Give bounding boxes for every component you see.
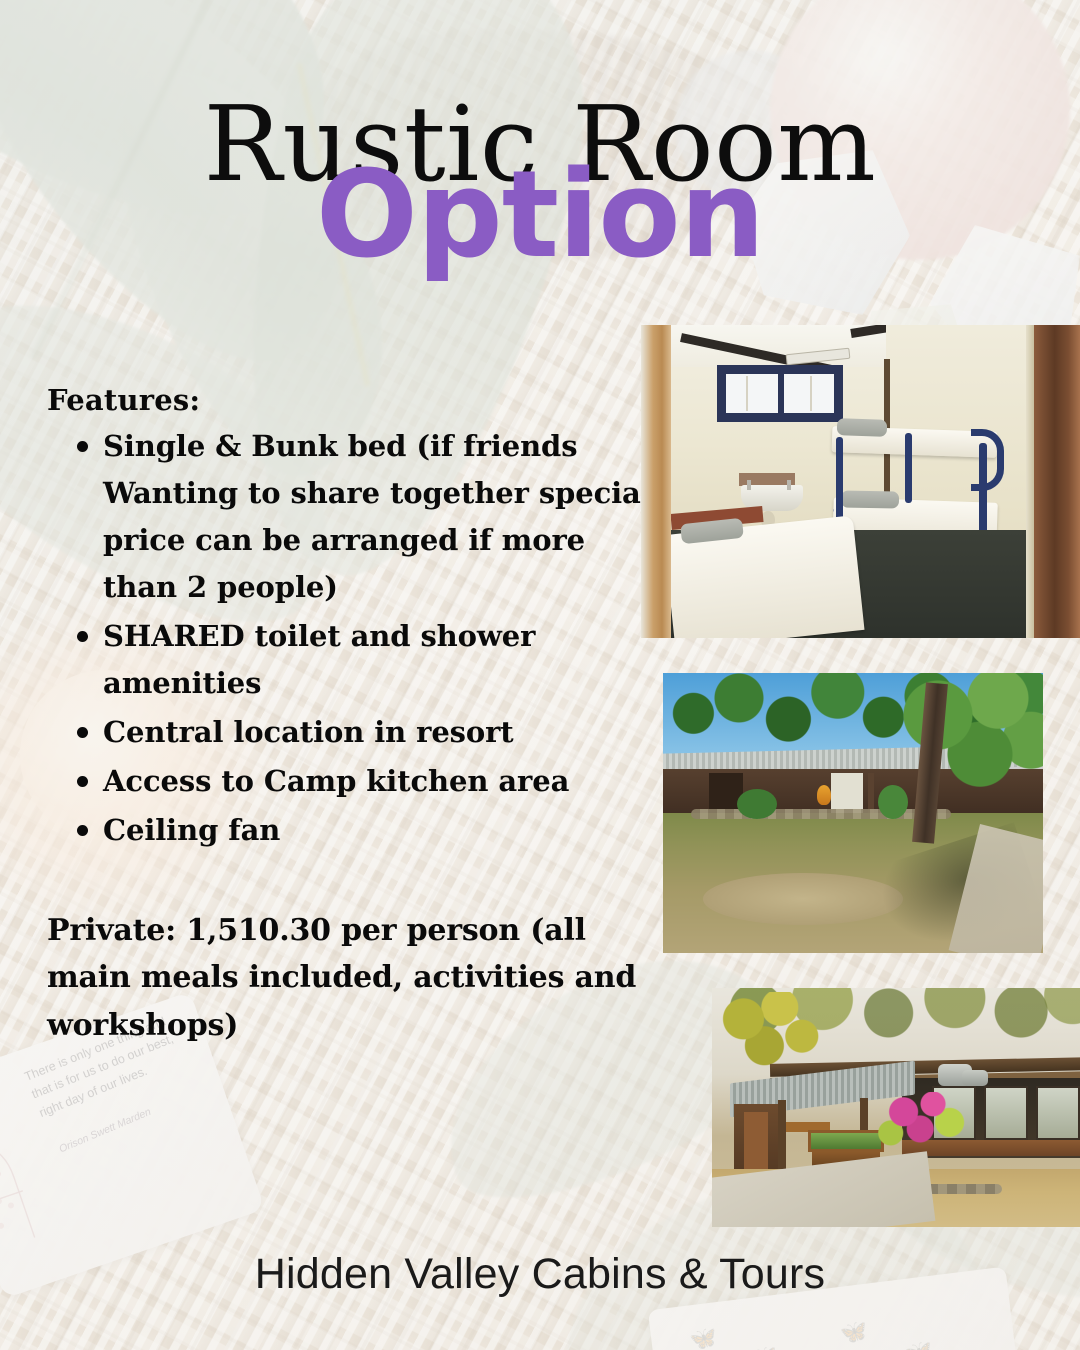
list-item: Central location in resort	[103, 709, 657, 756]
poster-title: Rustic Room Option	[0, 95, 1080, 264]
room-window	[717, 365, 843, 422]
pricing-statement: Private: 1,510.30 per person (all main m…	[47, 907, 647, 1049]
page-subtitle: Option	[0, 168, 1080, 264]
list-item: SHARED toilet and shower amenities	[103, 613, 657, 707]
camp-kitchen-photo	[712, 988, 1080, 1227]
garden-exterior-photo	[663, 673, 1043, 953]
list-item: Ceiling fan	[103, 807, 657, 854]
list-item: Access to Camp kitchen area	[103, 758, 657, 805]
features-list: Single & Bunk bed (if friends Wanting to…	[47, 423, 657, 854]
brand-footer: Hidden Valley Cabins & Tours	[0, 1250, 1080, 1299]
bunk-bed-room-photo	[641, 325, 1080, 638]
list-item: Single & Bunk bed (if friends Wanting to…	[103, 423, 657, 611]
features-heading: Features:	[47, 383, 657, 417]
features-section: Features: Single & Bunk bed (if friends …	[47, 383, 657, 856]
